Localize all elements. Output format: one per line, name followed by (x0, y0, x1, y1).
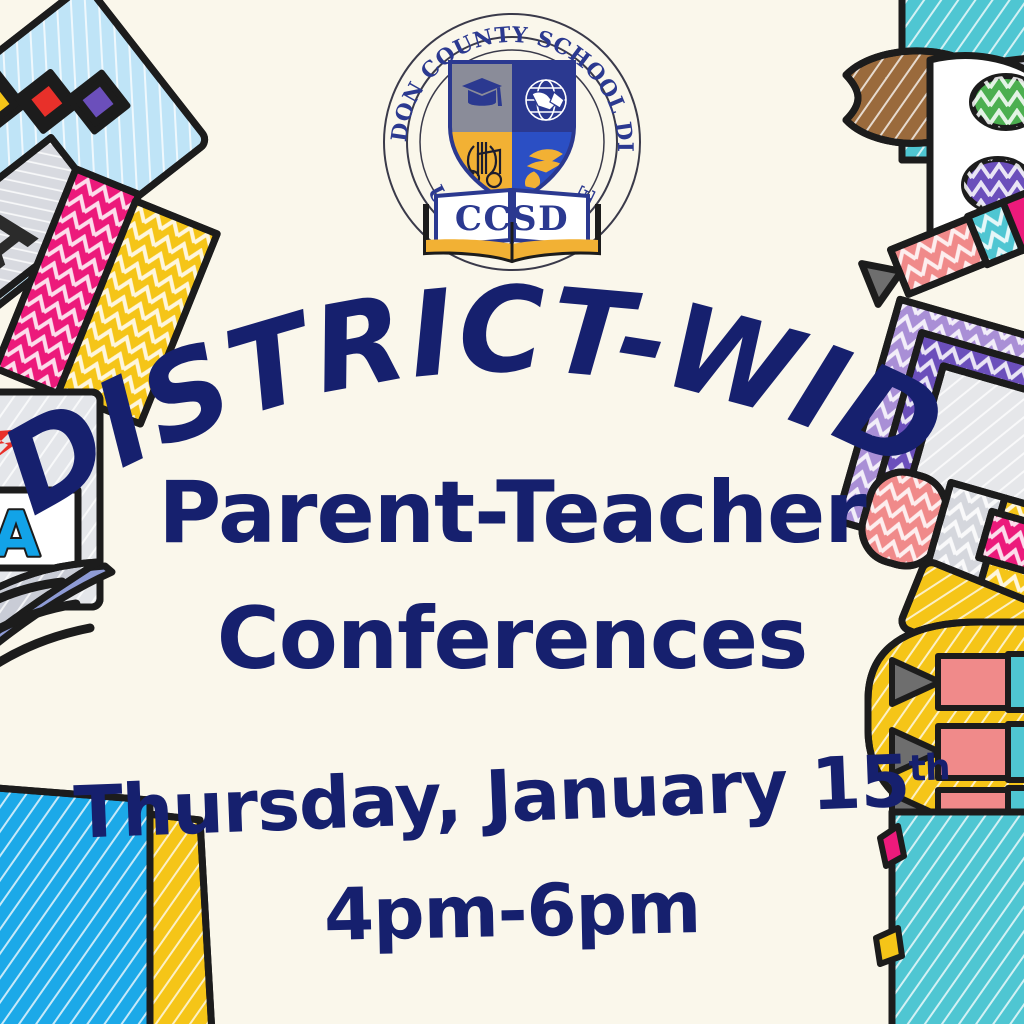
flyer-canvas: A (0, 0, 1024, 1024)
event-date: Thursday, January 15th (0, 740, 1024, 851)
event-date-ordinal: th (908, 747, 950, 790)
subtitle-line-1: Parent-Teacher (0, 470, 1024, 556)
seal-book: CCSD (426, 190, 598, 260)
seal-center-text: CCSD (455, 199, 569, 239)
event-date-text: Thursday, January 15 (72, 739, 910, 855)
event-time: 4pm-6pm (0, 864, 1024, 957)
subtitle-line-2: Conferences (0, 596, 1024, 682)
ccsd-seal-logo: CLARENDON COUNTY SCHOOL DISTRICT UNIFIED… (378, 8, 646, 276)
